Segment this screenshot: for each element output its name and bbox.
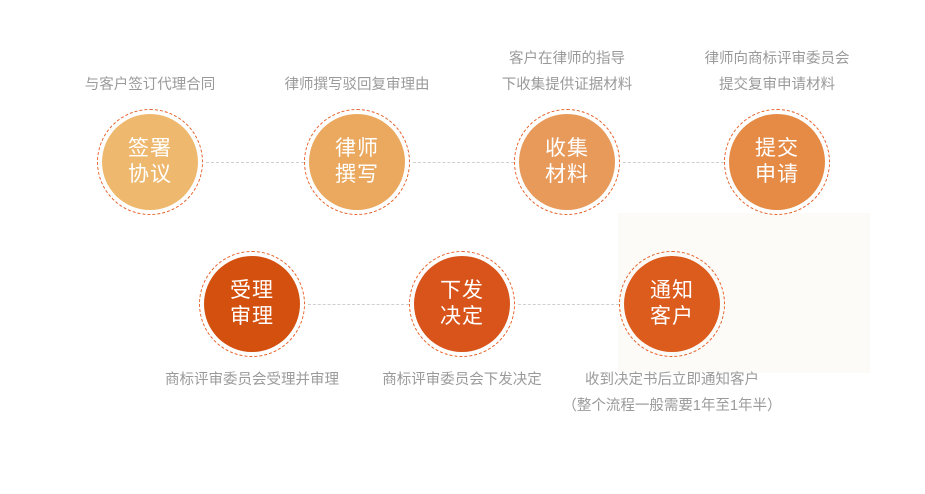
node-label-line1: 受理 (230, 278, 274, 304)
node-accept-review[interactable]: 受理 审理 (199, 251, 305, 357)
node-label-line2: 客户 (650, 304, 694, 330)
node-lawyer-drafts[interactable]: 律师 撰写 (304, 109, 410, 215)
node-disc: 受理 审理 (204, 256, 300, 352)
caption-line: 商标评审委员会下发决定 (362, 367, 562, 393)
caption-issue-decision: 商标评审委员会下发决定 (362, 367, 562, 393)
caption-notify-client: 收到决定书后立即通知客户 （整个流程一般需要1年至1年半） (557, 367, 787, 419)
node-label-line2: 审理 (230, 304, 274, 330)
caption-line: 商标评审委员会受理并审理 (152, 367, 352, 393)
caption-submit-application: 律师向商标评审委员会 提交复审申请材料 (677, 46, 877, 98)
caption-line: 律师撰写驳回复审理由 (257, 72, 457, 98)
node-label-line1: 通知 (650, 278, 694, 304)
caption-line: （整个流程一般需要1年至1年半） (557, 393, 787, 419)
node-label-line2: 决定 (440, 304, 484, 330)
node-disc: 律师 撰写 (309, 114, 405, 210)
caption-line: 与客户签订代理合同 (50, 72, 250, 98)
node-label-line2: 申请 (755, 162, 799, 188)
connector-sign-to-draft (206, 162, 304, 163)
node-disc: 收集 材料 (519, 114, 615, 210)
node-issue-decision[interactable]: 下发 决定 (409, 251, 515, 357)
node-label-line1: 收集 (545, 136, 589, 162)
caption-line: 客户在律师的指导 (467, 46, 667, 72)
node-collect-materials[interactable]: 收集 材料 (514, 109, 620, 215)
node-label-line1: 签署 (128, 136, 172, 162)
caption-line: 下收集提供证据材料 (467, 72, 667, 98)
node-disc: 通知 客户 (624, 256, 720, 352)
connector-draft-to-collect (413, 162, 514, 163)
caption-lawyer-drafts: 律师撰写驳回复审理由 (257, 72, 457, 98)
caption-sign-agreement: 与客户签订代理合同 (50, 72, 250, 98)
node-label-line2: 材料 (545, 162, 589, 188)
node-disc: 签署 协议 (102, 114, 198, 210)
connector-accept-to-issue (308, 304, 409, 305)
node-disc: 提交 申请 (729, 114, 825, 210)
caption-line: 提交复审申请材料 (677, 72, 877, 98)
connector-issue-to-notify (518, 304, 619, 305)
flowchart-canvas: 与客户签订代理合同 律师撰写驳回复审理由 客户在律师的指导 下收集提供证据材料 … (0, 0, 925, 494)
node-label-line2: 协议 (128, 162, 172, 188)
node-notify-client[interactable]: 通知 客户 (619, 251, 725, 357)
caption-line: 收到决定书后立即通知客户 (557, 367, 787, 393)
caption-accept-review: 商标评审委员会受理并审理 (152, 367, 352, 393)
caption-line: 律师向商标评审委员会 (677, 46, 877, 72)
node-label-line2: 撰写 (335, 162, 379, 188)
node-label-line1: 律师 (335, 136, 379, 162)
node-disc: 下发 决定 (414, 256, 510, 352)
node-label-line1: 提交 (755, 136, 799, 162)
node-sign-agreement[interactable]: 签署 协议 (97, 109, 203, 215)
connector-collect-to-submit (623, 162, 724, 163)
caption-collect-materials: 客户在律师的指导 下收集提供证据材料 (467, 46, 667, 98)
node-submit-application[interactable]: 提交 申请 (724, 109, 830, 215)
node-label-line1: 下发 (440, 278, 484, 304)
